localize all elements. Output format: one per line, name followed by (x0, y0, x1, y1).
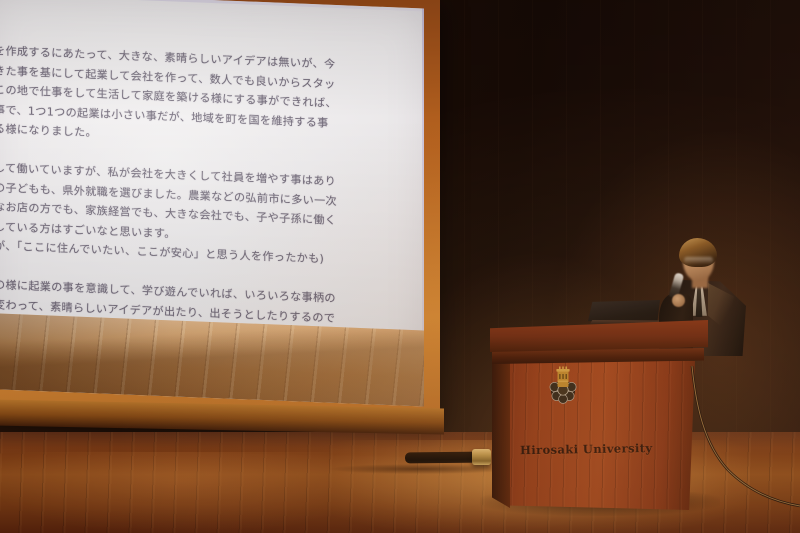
podium-side-panel (492, 358, 510, 508)
lecture-hall-photo: を作成するにあたって、大きな、素晴らしいアイデアは無いが、今 きた事を基にして起… (0, 0, 800, 533)
slide-wood-photo (0, 313, 424, 406)
podium-front-panel (500, 358, 695, 510)
roller-end-cap (472, 449, 491, 465)
slide-text-block: を作成するにあたって、大きな、素晴らしいアイデアは無いが、今 きた事を基にして起… (0, 41, 424, 354)
podium: Hirosaki University (492, 340, 702, 510)
roller-shadow (330, 464, 510, 474)
projection-screen-frame: を作成するにあたって、大きな、素晴らしいアイデアは無いが、今 きた事を基にして起… (0, 0, 440, 418)
slide-photo-sidelight (0, 313, 424, 406)
eyeglasses-icon (684, 257, 713, 264)
projection-screen-surface: を作成するにあたって、大きな、素晴らしいアイデアは無いが、今 きた事を基にして起… (0, 0, 424, 407)
speaker-hand (672, 294, 685, 307)
podium-engraved-text: Hirosaki University (520, 441, 670, 458)
podium-wood-grain (500, 358, 695, 510)
screen-top-edge (0, 0, 424, 12)
university-crest-icon (548, 366, 578, 404)
